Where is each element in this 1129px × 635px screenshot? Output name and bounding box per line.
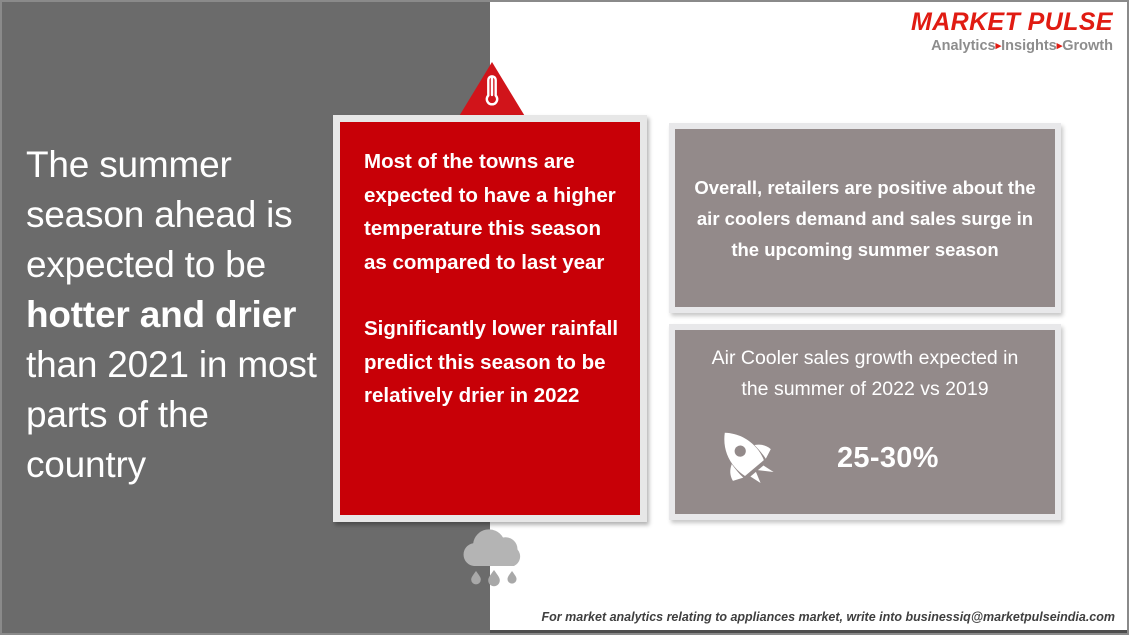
tagline-analytics: Analytics <box>931 38 995 54</box>
red-callout-inner: Most of the towns are expected to have a… <box>340 122 640 515</box>
sales-growth-row: 25-30% <box>675 421 1055 495</box>
rocket-icon <box>709 421 783 495</box>
red-callout-paragraph-1: Most of the towns are expected to have a… <box>364 145 622 279</box>
red-callout-box: Most of the towns are expected to have a… <box>333 115 647 522</box>
brand-logo-tagline: Analytics▸Insights▸Growth <box>911 37 1113 55</box>
sales-growth-card: Air Cooler sales growth expected in the … <box>669 324 1061 520</box>
retailer-sentiment-card-inner: Overall, retailers are positive about th… <box>675 129 1055 307</box>
footer-divider <box>490 630 1129 633</box>
retailer-sentiment-card: Overall, retailers are positive about th… <box>669 123 1061 313</box>
page-title: The summer season ahead is expected to b… <box>26 140 326 490</box>
tagline-growth: Growth <box>1062 38 1113 54</box>
tagline-insights: Insights <box>1001 38 1057 54</box>
retailer-sentiment-text: Overall, retailers are positive about th… <box>675 172 1055 265</box>
headline-segment-1: The summer season ahead is expected to b… <box>26 144 292 285</box>
headline-bold-segment: hotter and drier <box>26 294 296 335</box>
red-callout-paragraph-2: Significantly lower rainfall predict thi… <box>364 312 622 413</box>
headline-segment-2: than 2021 in most parts of the country <box>26 344 317 485</box>
brand-logo: MARKET PULSE Analytics▸Insights▸Growth <box>911 8 1113 55</box>
warning-thermometer-icon <box>457 60 527 120</box>
sales-growth-card-inner: Air Cooler sales growth expected in the … <box>675 330 1055 514</box>
footer-note: For market analytics relating to applian… <box>542 610 1115 624</box>
sales-growth-label: Air Cooler sales growth expected in the … <box>675 343 1055 405</box>
slide-root: The summer season ahead is expected to b… <box>0 0 1129 635</box>
rain-cloud-icon <box>454 526 530 588</box>
sales-growth-value: 25-30% <box>837 442 939 475</box>
brand-logo-title: MARKET PULSE <box>911 8 1113 36</box>
